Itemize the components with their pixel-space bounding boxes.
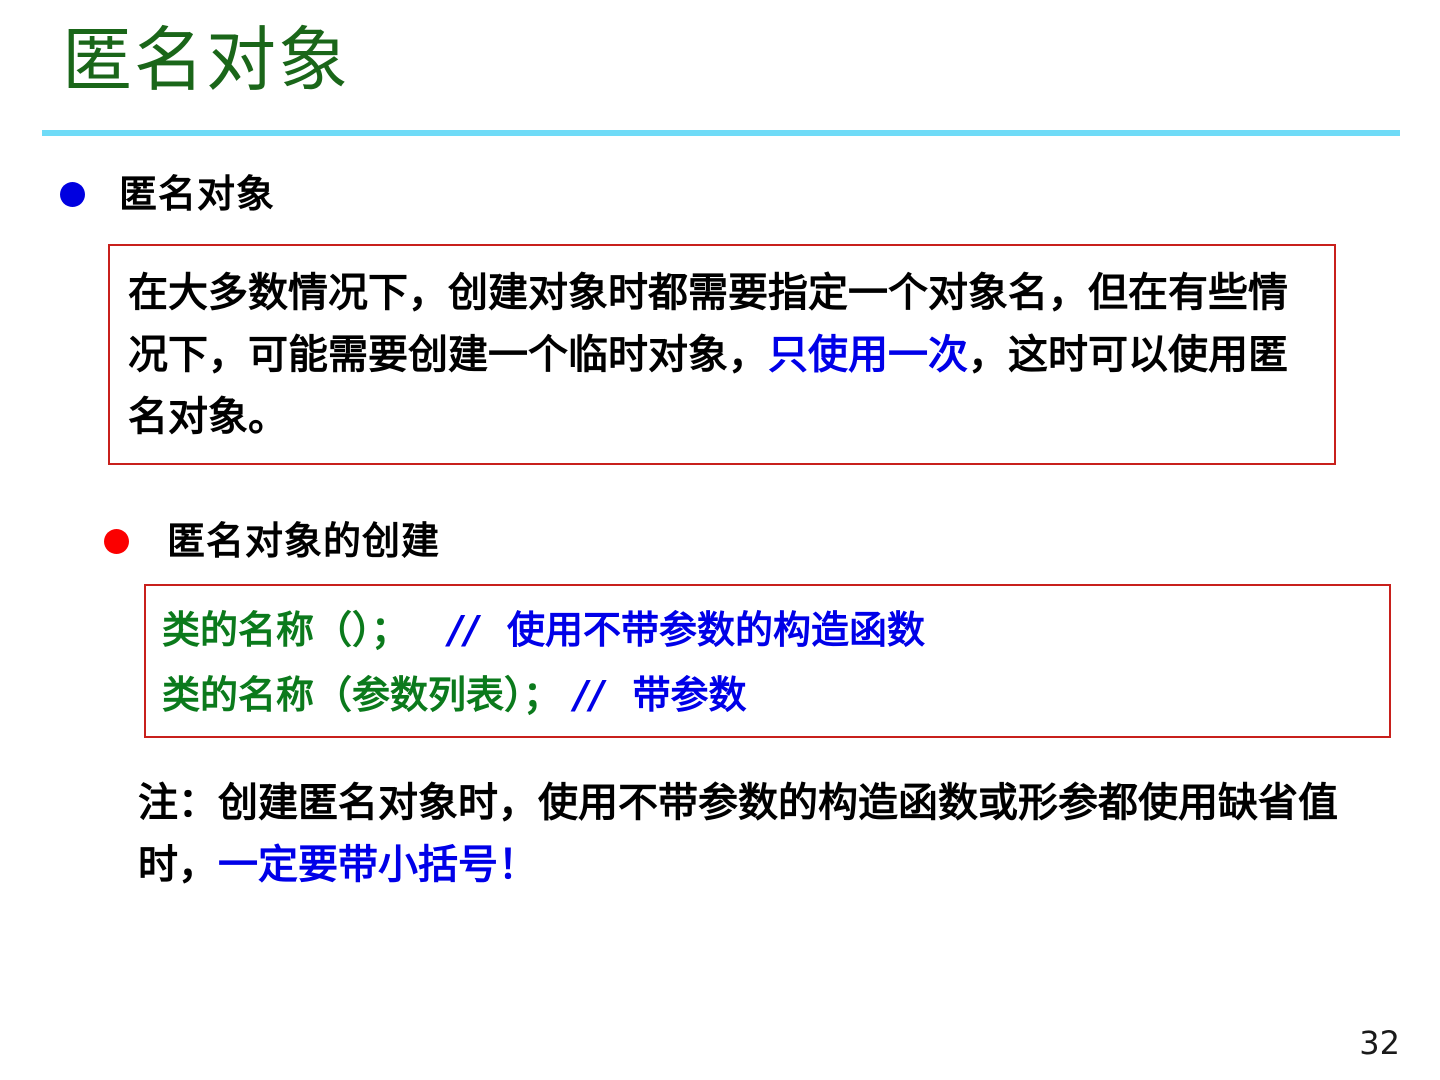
- code-line: 类的名称（）； // 使用不带参数的构造函数: [162, 598, 1373, 663]
- syntax-code-box: 类的名称（）； // 使用不带参数的构造函数 类的名称（参数列表）； // 带参…: [144, 584, 1391, 738]
- comment-slash-marker: //: [574, 673, 606, 717]
- definition-segment-highlight: 只使用一次: [768, 332, 968, 378]
- code-line: 类的名称（参数列表）； // 带参数: [162, 663, 1373, 728]
- bullet-item-label: 匿名对象: [119, 172, 275, 216]
- code-statement: 类的名称（参数列表）；: [162, 673, 561, 717]
- note-paragraph: 注：创建匿名对象时，使用不带参数的构造函数或形参都使用缺省值时，一定要带小括号！: [138, 772, 1388, 896]
- code-comment: 使用不带参数的构造函数: [507, 608, 925, 652]
- code-statement: 类的名称（）；: [162, 608, 409, 652]
- note-segment-highlight: 一定要带小括号！: [218, 842, 538, 888]
- code-comment: 带参数: [632, 673, 746, 717]
- bullet-dot-icon: [60, 182, 85, 207]
- definition-text-box: 在大多数情况下，创建对象时都需要指定一个对象名，但在有些情况下，可能需要创建一个…: [108, 244, 1336, 465]
- definition-paragraph: 在大多数情况下，创建对象时都需要指定一个对象名，但在有些情况下，可能需要创建一个…: [128, 262, 1316, 448]
- bullet-item-label: 匿名对象的创建: [167, 519, 440, 563]
- slide-canvas: 匿名对象 匿名对象 在大多数情况下，创建对象时都需要指定一个对象名，但在有些情况…: [0, 0, 1440, 1080]
- bullet-item-anonymous-object: 匿名对象: [60, 172, 275, 216]
- title-divider-rule: [42, 130, 1400, 136]
- comment-slash-marker: //: [449, 608, 481, 652]
- bullet-item-creating-anonymous-object: 匿名对象的创建: [104, 519, 440, 563]
- bullet-dot-icon: [104, 529, 129, 554]
- page-title: 匿名对象: [62, 18, 350, 102]
- page-number: 32: [1359, 1024, 1400, 1062]
